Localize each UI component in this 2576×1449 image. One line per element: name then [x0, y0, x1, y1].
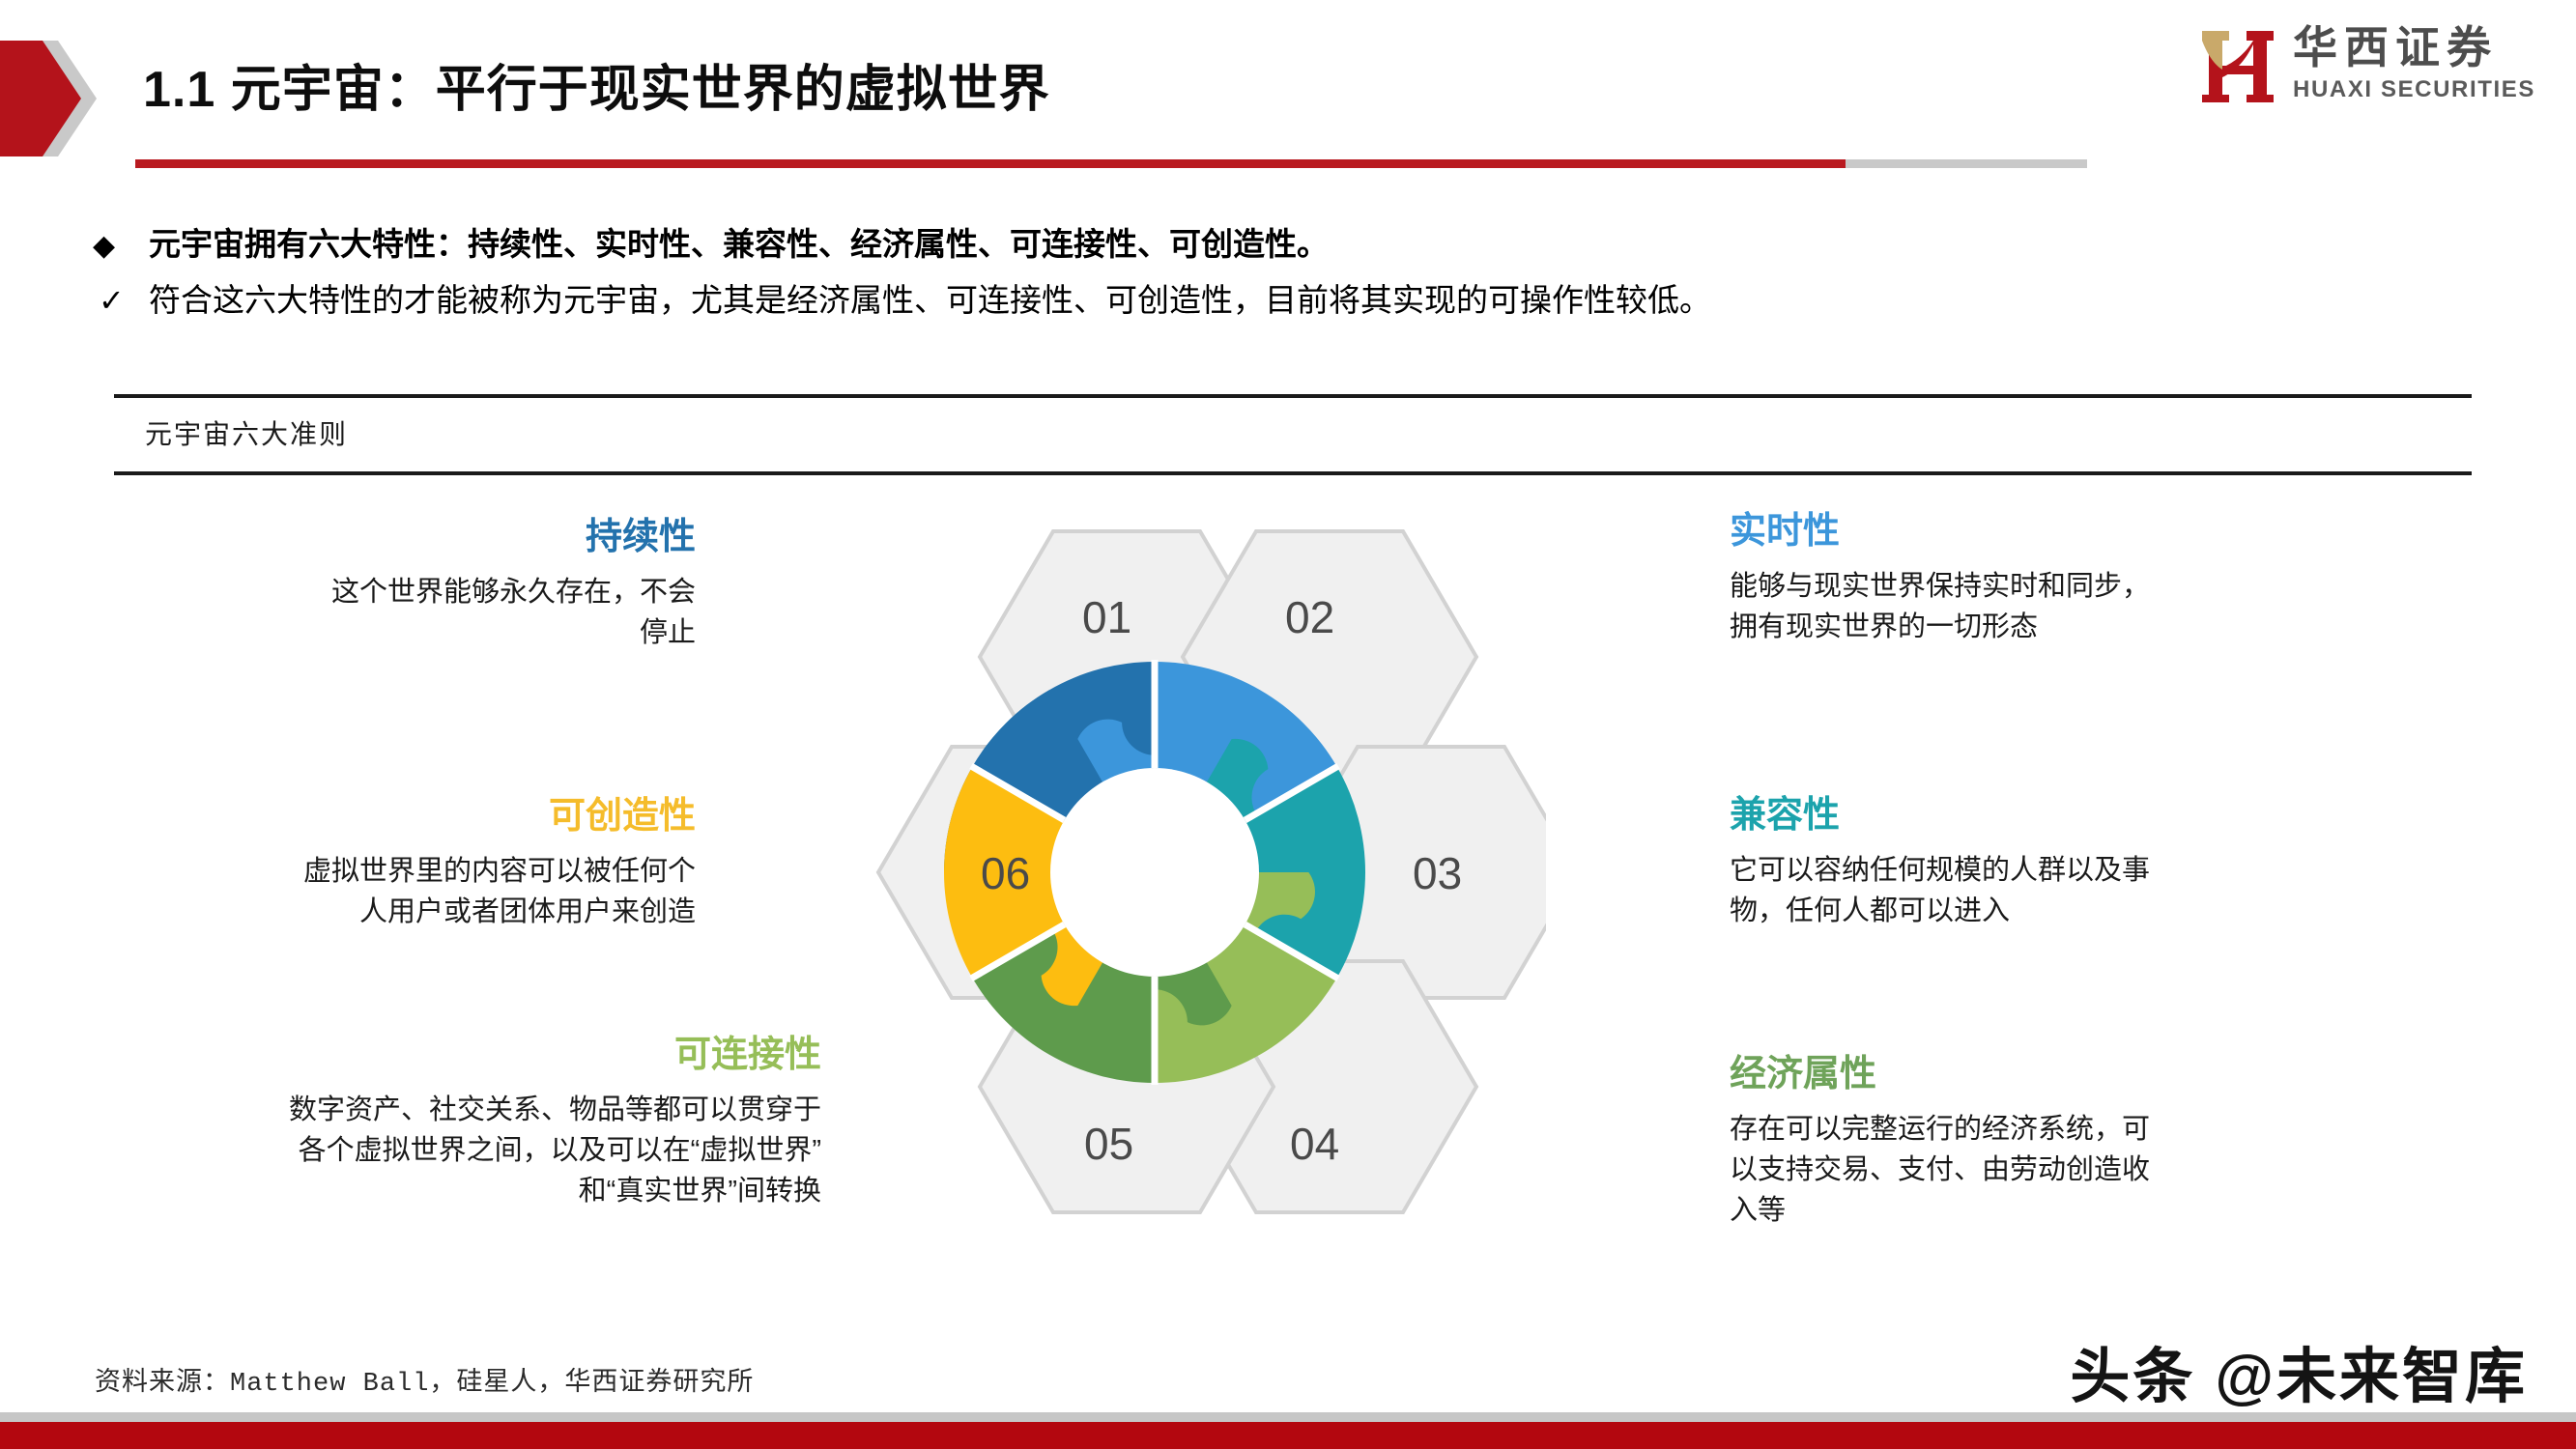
bullet-text: 符合这六大特性的才能被称为元宇宙，尤其是经济属性、可连接性、可创造性，目前将其实…	[149, 280, 1711, 320]
bullet-text: 元宇宙拥有六大特性：持续性、实时性、兼容性、经济属性、可连接性、可创造性。	[149, 224, 1329, 264]
feature-desc-line: 人用户或者团体用户来创造	[87, 892, 696, 932]
feature-desc-02: 能够与现实世界保持实时和同步， 拥有现实世界的一切形态	[1730, 566, 2406, 647]
feature-desc-line: 停止	[126, 612, 696, 653]
feature-desc-line: 各个虚拟世界之间，以及可以在“虚拟世界”	[126, 1130, 821, 1171]
feature-desc-line: 能够与现实世界保持实时和同步，	[1730, 566, 2406, 607]
feature-block-04: 经济属性 存在可以完整运行的经济系统，可 以支持交易、支付、由劳动创造收 入等	[1730, 1053, 2406, 1231]
feature-desc-line: 存在可以完整运行的经济系统，可	[1730, 1109, 2406, 1150]
huaxi-securities-logo: 华西证券 HUAXI SECURITIES	[2196, 23, 2535, 104]
logo-text-cn: 华西证券	[2293, 24, 2498, 71]
bullet-item: ✓ 符合这六大特性的才能被称为元宇宙，尤其是经济属性、可连接性、可创造性，目前将…	[93, 280, 2460, 320]
feature-block-02: 实时性 能够与现实世界保持实时和同步， 拥有现实世界的一切形态	[1730, 510, 2406, 647]
footer-bar-gray	[0, 1412, 2576, 1422]
feature-desc-06: 虚拟世界里的内容可以被任何个 人用户或者团体用户来创造	[87, 851, 696, 932]
caption-rule-bottom	[114, 471, 2472, 475]
caption-label: 元宇宙六大准则	[145, 413, 348, 452]
hex-number-04: 04	[1290, 1119, 1339, 1169]
hex-number-01: 01	[1082, 592, 1131, 642]
feature-block-03: 兼容性 它可以容纳任何规模的人群以及事 物，任何人都可以进入	[1730, 794, 2406, 931]
feature-title-04: 经济属性	[1730, 1053, 2406, 1097]
bullet-item: ◆ 元宇宙拥有六大特性：持续性、实时性、兼容性、经济属性、可连接性、可创造性。	[93, 224, 2460, 265]
footer-bar-red	[0, 1422, 2576, 1449]
feature-desc-05: 数字资产、社交关系、物品等都可以贯穿于 各个虚拟世界之间，以及可以在“虚拟世界”…	[126, 1090, 821, 1211]
hexagon-ring-diagram: 01 02 03 04 05 06	[763, 488, 1546, 1232]
feature-desc-line: 物，任何人都可以进入	[1730, 891, 2406, 931]
hex-number-05: 05	[1084, 1119, 1133, 1169]
feature-desc-line: 虚拟世界里的内容可以被任何个	[87, 851, 696, 892]
huaxi-h-logo-icon	[2196, 23, 2279, 104]
feature-title-02: 实时性	[1730, 510, 2406, 554]
source-note: 资料来源：Matthew Ball，硅星人，华西证券研究所	[95, 1360, 754, 1399]
header-rule-gray	[1846, 159, 2087, 168]
ring-center-hole	[1050, 768, 1259, 977]
feature-title-06: 可创造性	[87, 795, 696, 839]
feature-desc-line: 入等	[1730, 1190, 2406, 1231]
feature-desc-line: 拥有现实世界的一切形态	[1730, 607, 2406, 647]
feature-desc-01: 这个世界能够永久存在，不会 停止	[126, 572, 696, 653]
hex-number-06: 06	[981, 848, 1030, 898]
header-rule-red	[135, 159, 1846, 168]
feature-block-06: 可创造性 虚拟世界里的内容可以被任何个 人用户或者团体用户来创造	[87, 795, 696, 932]
logo-text-en: HUAXI SECURITIES	[2293, 76, 2535, 103]
feature-desc-line: 数字资产、社交关系、物品等都可以贯穿于	[126, 1090, 821, 1130]
feature-desc-line: 和“真实世界”间转换	[126, 1171, 821, 1211]
feature-desc-line: 这个世界能够永久存在，不会	[126, 572, 696, 612]
feature-title-01: 持续性	[126, 516, 696, 560]
diamond-bullet-icon: ◆	[93, 228, 149, 265]
feature-desc-04: 存在可以完整运行的经济系统，可 以支持交易、支付、由劳动创造收 入等	[1730, 1109, 2406, 1231]
feature-desc-line: 以支持交易、支付、由劳动创造收	[1730, 1150, 2406, 1190]
slide-root: 1.1 元宇宙：平行于现实世界的虚拟世界 华西证券 HUAXI SECURITI…	[0, 0, 2576, 1449]
feature-desc-03: 它可以容纳任何规模的人群以及事 物，任何人都可以进入	[1730, 850, 2406, 931]
hex-number-02: 02	[1285, 592, 1334, 642]
feature-title-03: 兼容性	[1730, 794, 2406, 838]
check-bullet-icon: ✓	[93, 281, 149, 320]
feature-block-01: 持续性 这个世界能够永久存在，不会 停止	[126, 516, 696, 653]
page-title: 1.1 元宇宙：平行于现实世界的虚拟世界	[143, 48, 1050, 121]
bullet-list: ◆ 元宇宙拥有六大特性：持续性、实时性、兼容性、经济属性、可连接性、可创造性。 …	[93, 224, 2460, 335]
caption-rule-top	[114, 394, 2472, 398]
feature-block-05: 可连接性 数字资产、社交关系、物品等都可以贯穿于 各个虚拟世界之间，以及可以在“…	[126, 1034, 821, 1211]
watermark: 头条 @未来智库	[2070, 1327, 2528, 1414]
feature-title-05: 可连接性	[126, 1034, 821, 1078]
feature-desc-line: 它可以容纳任何规模的人群以及事	[1730, 850, 2406, 891]
header-arrow-icon	[0, 41, 97, 156]
hex-number-03: 03	[1413, 848, 1462, 898]
